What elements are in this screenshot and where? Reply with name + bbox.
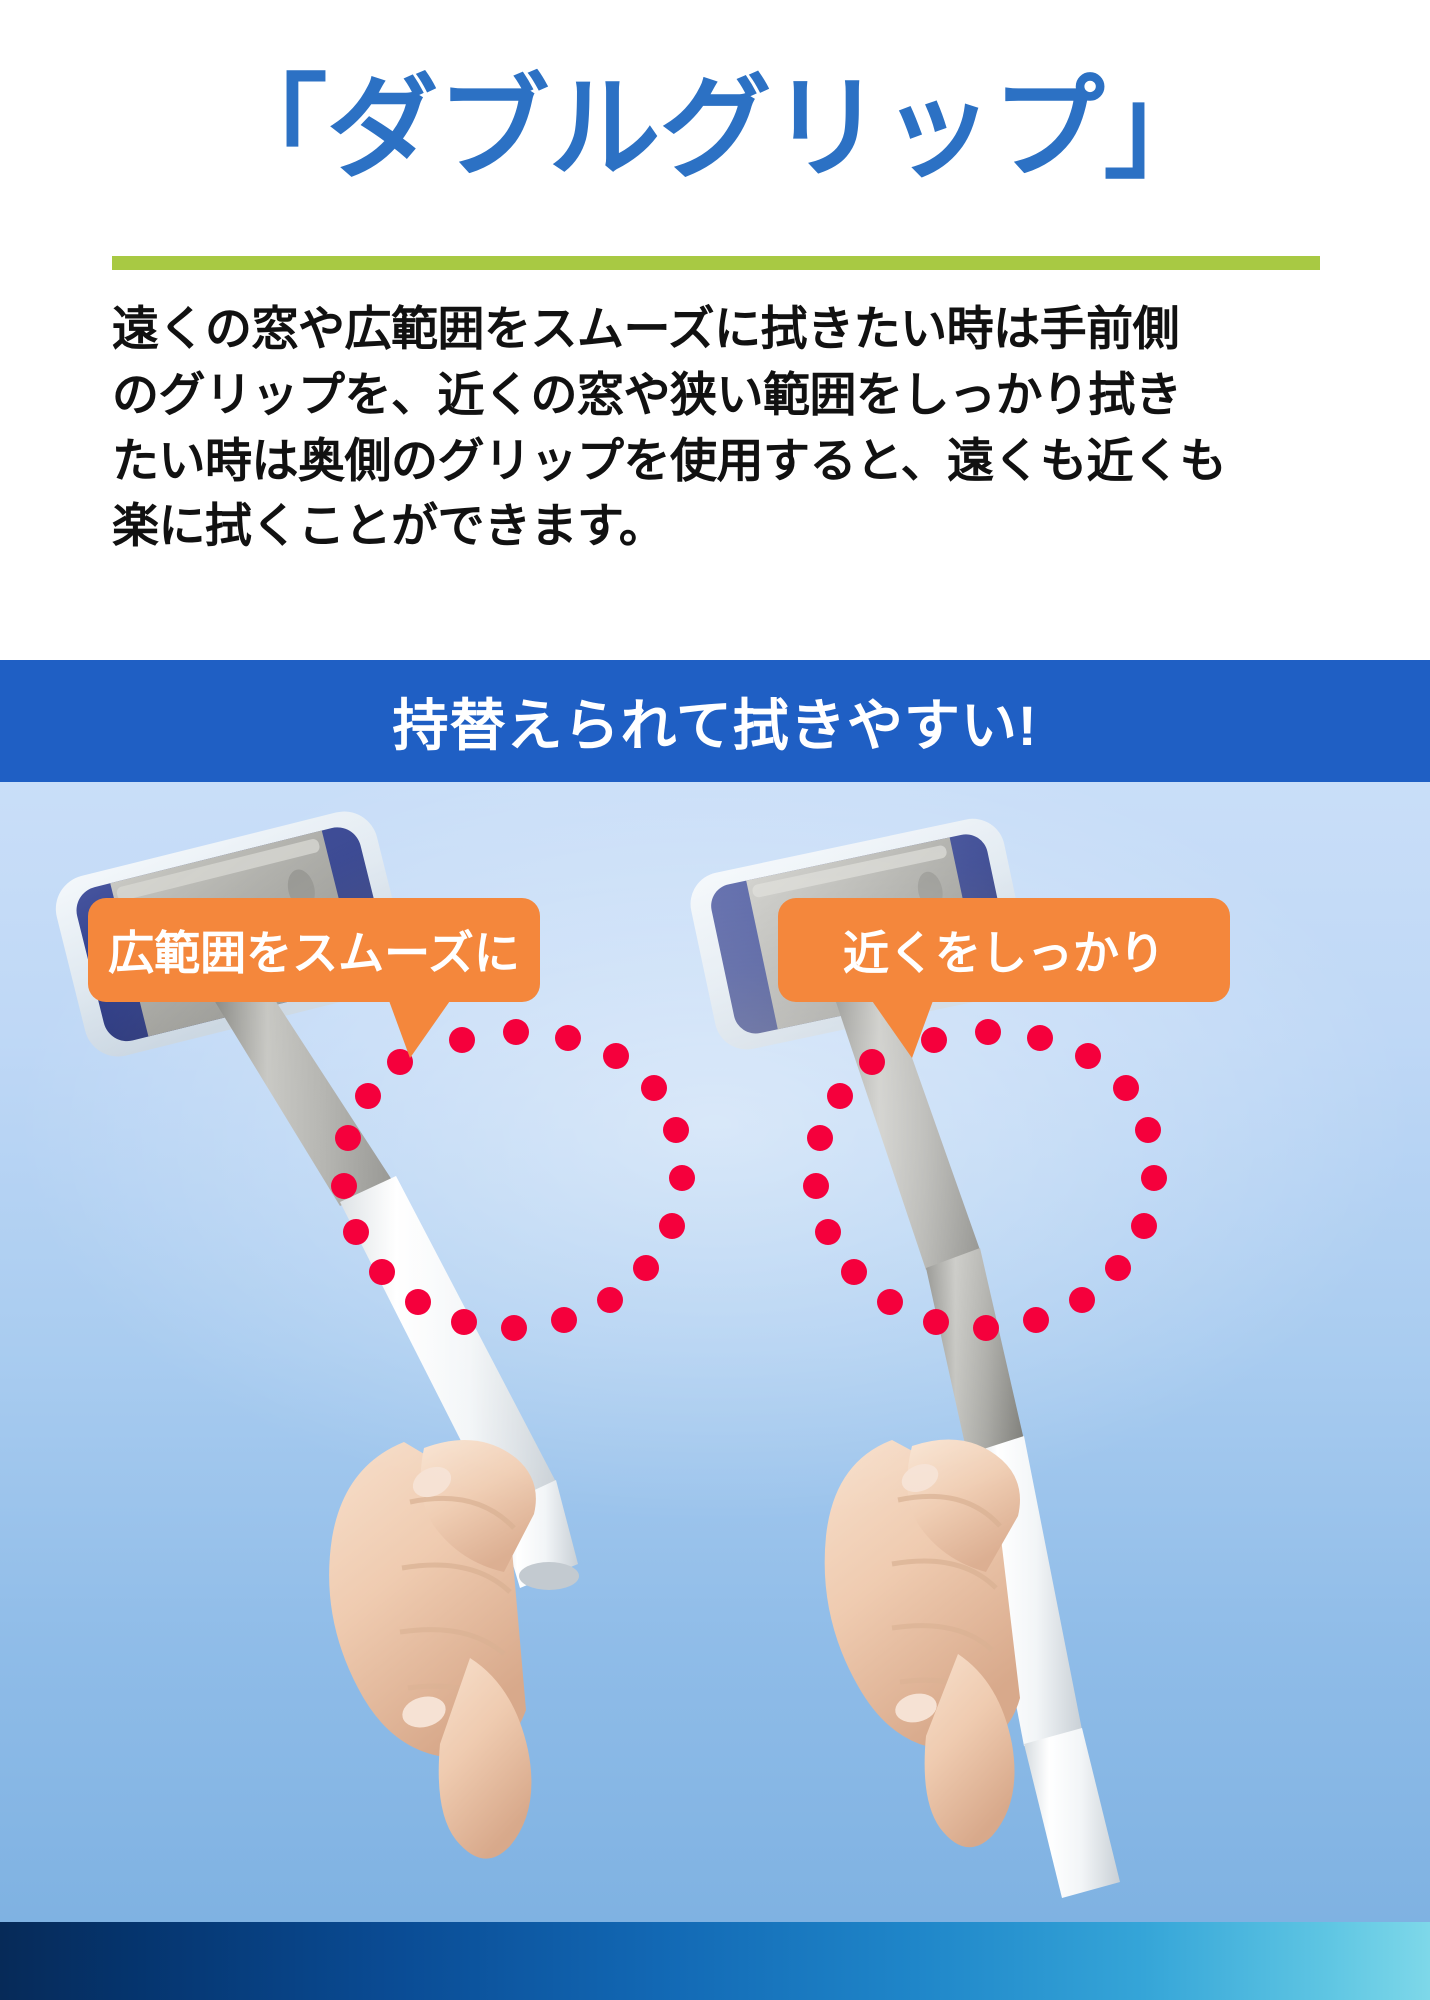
description-line-4: 楽に拭くことができます。 [112, 493, 1342, 559]
description-line-2: のグリップを、近くの窓や狭い範囲をしっかり拭き [112, 362, 1342, 428]
callout-bubble-wide-area: 広範囲をスムーズに [88, 898, 540, 1002]
page-title: 「ダブルグリップ」 [0, 70, 1430, 189]
callout-bubble-close-area: 近くをしっかり [778, 898, 1230, 1002]
product-feature-page: 「ダブルグリップ」 遠くの窓や広範囲をスムーズに拭きたい時は手前側 のグリップを… [0, 0, 1430, 2000]
callout-tail-left [388, 998, 452, 1058]
callout-tail-right [870, 998, 934, 1058]
callout-label-right: 近くをしっかり [843, 917, 1165, 983]
description-text: 遠くの窓や広範囲をスムーズに拭きたい時は手前側 のグリップを、近くの窓や狭い範囲… [112, 296, 1342, 559]
section-banner: 持替えられて拭きやすい! [0, 660, 1430, 782]
callout-label-left: 広範囲をスムーズに [108, 917, 520, 983]
hand-right [825, 1440, 1020, 1848]
intro-section: 「ダブルグリップ」 遠くの窓や広範囲をスムーズに拭きたい時は手前側 のグリップを… [0, 0, 1430, 660]
hand-left [329, 1440, 536, 1859]
footer-gradient-bar [0, 1922, 1430, 2000]
description-line-3: たい時は奥側のグリップを使用すると、遠くも近くも [112, 428, 1342, 494]
description-line-1: 遠くの窓や広範囲をスムーズに拭きたい時は手前側 [112, 296, 1342, 362]
title-divider [112, 256, 1320, 270]
banner-label: 持替えられて拭きやすい! [393, 681, 1038, 762]
